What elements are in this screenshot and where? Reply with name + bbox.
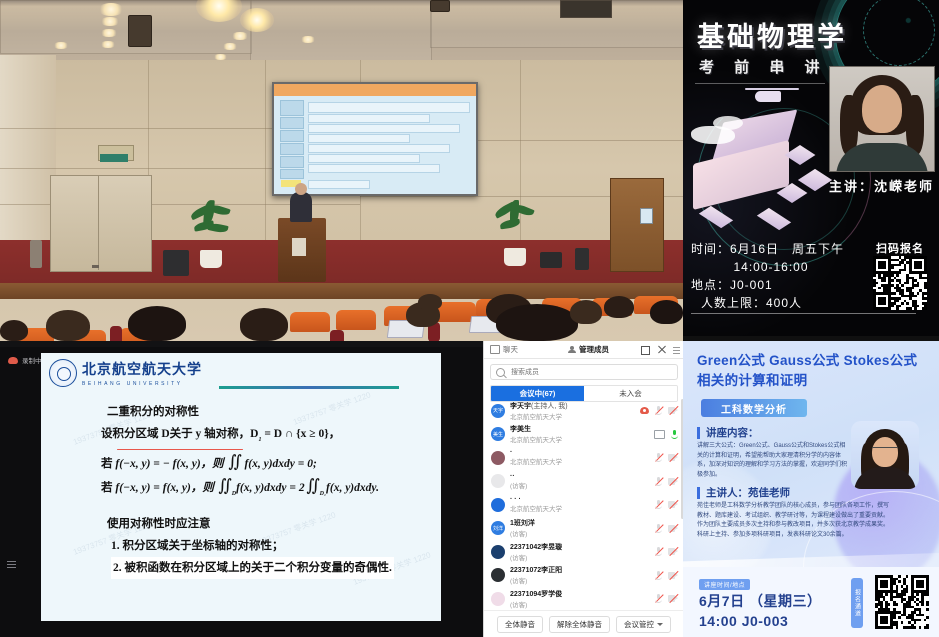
slide-rule xyxy=(219,386,399,389)
projection-screen xyxy=(272,82,478,196)
member-org: 北京航空航天大学 xyxy=(510,456,650,466)
event-capacity: 人数上限：400人 xyxy=(691,294,851,312)
mic-muted-icon[interactable] xyxy=(655,477,662,486)
poster-event-info: 时间：6月16日 周五下午 14:00-16:00 地点：J0-001 人数上限… xyxy=(691,240,851,312)
qr-label: 扫码报名 xyxy=(871,240,929,256)
member-org: (访客) xyxy=(510,599,650,609)
avatar xyxy=(491,545,505,559)
slide-line-2-prefix: 若 xyxy=(101,458,115,470)
speaker-cabinet xyxy=(163,250,189,276)
tab-manage-members-label: 管理成员 xyxy=(579,344,609,355)
mic-muted-icon[interactable] xyxy=(655,406,662,415)
ceiling-panel xyxy=(430,0,683,48)
tab-manage-members[interactable]: 管理成员 xyxy=(562,341,615,358)
lecturer xyxy=(290,192,312,222)
share-topbar xyxy=(0,341,483,347)
screenshot-collage: 基础物理学 考 前 串 讲 主讲：沈嵘老师 时间：6月16日 周五下午 14:0… xyxy=(0,0,939,637)
camera-muted-icon[interactable] xyxy=(668,572,678,579)
member-status-icons xyxy=(655,594,678,603)
ceiling-speaker xyxy=(430,0,450,12)
member-list[interactable]: 天宇李天宇(主持人, 我)北京航空航天大学美生李美生北京航空航天大学·北京航空航… xyxy=(484,399,684,611)
member-org: (访客) xyxy=(510,480,650,490)
helicopter-icon xyxy=(745,86,799,104)
slide-line-2-tail: f(x, y)dxdy = 0; xyxy=(244,458,316,470)
ceiling-downlight xyxy=(53,42,69,49)
tab-chat[interactable]: 聊天 xyxy=(484,341,524,358)
member-name: · xyxy=(510,449,650,456)
avatar xyxy=(491,498,505,512)
shared-slide: 19373757 零关学 1220 19373757 零关学 1220 1937… xyxy=(41,353,441,621)
footer-button-2[interactable]: 解除全体静音 xyxy=(549,616,610,633)
equipment-case xyxy=(575,248,589,270)
course-chip: 工科数学分析 xyxy=(701,399,807,417)
member-org: 北京航空航天大学 xyxy=(510,411,635,421)
hall-door xyxy=(50,175,152,272)
footer-button-label: 解除全体静音 xyxy=(557,619,602,630)
member-status-icons xyxy=(655,571,678,580)
avatar xyxy=(491,474,505,488)
slide-line-2-eq: f(−x, y) = − f(x, y)，则 xyxy=(115,458,223,470)
member-info: ·北京航空航天大学 xyxy=(510,449,650,466)
avatar: 刘洋 xyxy=(491,521,505,535)
section-heading-content: 讲座内容： xyxy=(697,427,759,439)
search-box[interactable] xyxy=(490,364,678,380)
member-info: 1班刘洋(访客) xyxy=(510,518,650,538)
member-status-icons xyxy=(655,500,678,509)
close-icon[interactable] xyxy=(657,345,666,354)
camera-muted-icon[interactable] xyxy=(668,525,678,532)
mic-muted-icon[interactable] xyxy=(655,524,662,533)
wall-emergency-light xyxy=(100,154,128,162)
member-info: 22371094罗学俊(访客) xyxy=(510,589,650,609)
chevron-down-icon xyxy=(657,623,663,626)
poster-subtitle: 考 前 串 讲 xyxy=(699,56,828,77)
slide-titlebar xyxy=(274,84,476,96)
avatar xyxy=(491,568,505,582)
speaker-photo xyxy=(829,66,935,172)
member-row[interactable]: 美生李美生北京航空航天大学 xyxy=(484,423,684,447)
slide-line-3: 若 f(−x, y) = f(x, y)，则 ∬Df(x, y)dxdy = 2… xyxy=(101,475,437,505)
wall-seam xyxy=(265,60,266,240)
physics-lecture-poster: 基础物理学 考 前 串 讲 主讲：沈嵘老师 时间：6月16日 周五下午 14:0… xyxy=(683,0,939,341)
equipment-case xyxy=(540,252,562,268)
member-name: · · · xyxy=(510,496,650,503)
camera-muted-icon[interactable] xyxy=(668,478,678,485)
ceiling-downlight xyxy=(100,41,116,48)
member-row[interactable]: 刘洋1班刘洋(访客) xyxy=(484,517,684,541)
audience-seating xyxy=(0,286,683,341)
podium xyxy=(278,218,326,282)
university-logo: 北京航空航天大学 BEIHANG UNIVERSITY xyxy=(49,359,202,387)
slide-heading: 二重积分的对称性 xyxy=(101,401,437,423)
speaker-photo xyxy=(851,421,919,489)
slide-note-heading: 使用对称性时应注意 xyxy=(101,513,437,535)
isometric-tech-illustration xyxy=(687,92,837,242)
wall-pillar xyxy=(0,55,56,265)
lecture-hall-photo xyxy=(0,0,683,341)
registration-qr-code[interactable] xyxy=(873,256,927,310)
member-info: 李天宇(主持人, 我)北京航空航天大学 xyxy=(510,401,635,421)
slide-line-3-mid: f(x, y)dxdy = 2 xyxy=(236,482,305,494)
camera-muted-icon[interactable] xyxy=(668,407,678,414)
member-row[interactable]: ··(访客) xyxy=(484,470,684,494)
slide-line-3-tail: f(x, y)dxdy. xyxy=(326,482,379,494)
university-name-en: BEIHANG UNIVERSITY xyxy=(82,381,202,387)
poster-title-line2: 相关的计算和证明 xyxy=(697,371,929,391)
footer-place: 14:00 J0-003 xyxy=(699,613,788,629)
member-status-icons xyxy=(655,453,678,462)
cloud-record-icon xyxy=(8,357,18,364)
door-seam xyxy=(98,175,99,270)
member-info: 22371072李正阳(访客) xyxy=(510,565,650,585)
poster-title: 基础物理学 xyxy=(697,15,847,54)
mic-muted-icon[interactable] xyxy=(655,547,662,556)
footer-button-label: 会议管控 xyxy=(624,619,654,630)
footer-button-1[interactable]: 全体静音 xyxy=(497,616,543,633)
double-integral-icon: ∬ xyxy=(228,451,240,473)
cloud-shape xyxy=(713,116,743,130)
member-info: 22371042李昱璇(访客) xyxy=(510,542,650,562)
slide-body: 二重积分的对称性 设积分区域 D关于 y 轴对称，D1 = D ∩ {x ≥ 0… xyxy=(101,401,437,579)
slide-line-1-text: 设积分区域 D关于 y 轴对称，D xyxy=(101,428,258,440)
camera-muted-icon[interactable] xyxy=(668,454,678,461)
door-sign xyxy=(640,208,653,224)
member-tag: (主持人, 我) xyxy=(531,403,568,410)
door-handle xyxy=(92,265,99,268)
mic-muted-icon[interactable] xyxy=(655,453,662,462)
member-row[interactable]: 天宇李天宇(主持人, 我)北京航空航天大学 xyxy=(484,399,684,423)
footer-button-3[interactable]: 会议管控 xyxy=(616,616,671,633)
member-name: 李天宇(主持人, 我) xyxy=(510,401,635,411)
member-status-icons xyxy=(655,477,678,486)
member-name: 1班刘洋 xyxy=(510,518,650,528)
search-input[interactable] xyxy=(509,368,672,377)
mic-muted-icon[interactable] xyxy=(655,594,662,603)
member-org: (访客) xyxy=(510,528,650,538)
math-lecture-poster: Green公式 Gauss公式 Stokes公式 相关的计算和证明 工科数学分析… xyxy=(683,341,939,637)
avatar xyxy=(491,592,505,606)
slide-line-2: 若 f(−x, y) = − f(x, y)，则 ∬ f(x, y)dxdy =… xyxy=(101,451,437,475)
member-name: 22371094罗学俊 xyxy=(510,589,650,599)
member-info: · · ·北京航空航天大学 xyxy=(510,496,650,513)
double-integral-icon: ∬ xyxy=(306,475,318,497)
slide-line-3-eq: f(−x, y) = f(x, y)，则 xyxy=(115,482,213,494)
trash-bin xyxy=(30,240,42,268)
camera-muted-icon[interactable] xyxy=(668,501,678,508)
member-status-icons xyxy=(655,547,678,556)
section-body-content: 讲解三大公式：Green公式、Gauss公式和Stokes公式相关的计算和证明，… xyxy=(697,442,849,480)
more-icon[interactable] xyxy=(673,345,680,354)
mic-muted-icon[interactable] xyxy=(655,500,662,509)
ceiling-panel xyxy=(250,0,432,62)
member-row[interactable]: 22371042李昱璇(访客) xyxy=(484,540,684,564)
qr-label: 报名通道 xyxy=(851,578,863,628)
meeting-screen-share: 录制中 19373757 零关学 1220 19373757 零关学 1220 … xyxy=(0,341,483,637)
window-controls xyxy=(641,341,680,358)
mic-on-icon[interactable] xyxy=(671,430,678,439)
potted-plant xyxy=(188,202,234,268)
member-row[interactable]: 22371094罗学俊(访客) xyxy=(484,587,684,611)
member-org: 北京航空航天大学 xyxy=(510,503,650,513)
mic-muted-icon[interactable] xyxy=(655,571,662,580)
member-status-icons xyxy=(655,524,678,533)
slide-note-1: 1. 积分区域关于坐标轴的对称性； xyxy=(101,535,437,557)
panel-tabs: 聊天 管理成员 xyxy=(484,341,684,359)
member-name: ·· xyxy=(510,473,650,480)
share-screen-icon xyxy=(654,430,665,439)
recording-indicator: 录制中 xyxy=(8,355,42,365)
avatar xyxy=(491,451,505,465)
event-time-line2: 14:00-16:00 xyxy=(691,258,851,276)
chat-icon xyxy=(490,345,500,354)
panel-footer: 全体静音解除全体静音会议管控 xyxy=(484,610,684,637)
hall-door xyxy=(610,178,664,272)
potted-plant xyxy=(492,200,538,266)
participants-panel: 聊天 管理成员 会议中(67) 未入会 天宇李天宇(主持人, 我)北京航空航天大… xyxy=(483,341,684,637)
ceiling-lamp xyxy=(240,8,274,32)
camera-muted-icon[interactable] xyxy=(668,548,678,555)
member-row[interactable]: ·北京航空航天大学 xyxy=(484,446,684,470)
tab-chat-label: 聊天 xyxy=(503,344,518,355)
university-name-cn: 北京航空航天大学 xyxy=(82,359,202,379)
people-icon xyxy=(568,346,576,353)
member-name: 李美生 xyxy=(510,424,649,434)
poster-title: Green公式 Gauss公式 Stokes公式 相关的计算和证明 xyxy=(697,351,929,391)
avatar: 美生 xyxy=(491,427,505,441)
ceiling-downlight xyxy=(98,3,124,16)
event-time-line1: 时间：6月16日 周五下午 xyxy=(691,240,851,258)
list-view-icon[interactable] xyxy=(7,561,16,568)
popout-icon[interactable] xyxy=(641,345,650,354)
member-row[interactable]: · · ·北京航空航天大学 xyxy=(484,493,684,517)
section-body-speaker: 苑佳老师是工科数学分析教学团队的核心成员，参与团队各项工作，撰写教材、题库建设、… xyxy=(697,502,893,540)
slide-line-3-prefix: 若 xyxy=(101,482,115,494)
member-status-icons xyxy=(640,406,678,415)
ceiling-speaker xyxy=(128,15,152,47)
avatar: 天宇 xyxy=(491,404,505,418)
ceiling-downlight xyxy=(100,17,120,26)
cloud-record-icon xyxy=(640,407,649,414)
member-row[interactable]: 22371072李正阳(访客) xyxy=(484,564,684,588)
poster-title-line1: Green公式 Gauss公式 Stokes公式 xyxy=(697,351,929,371)
footer-tag: 讲座时间/地点 xyxy=(699,579,750,590)
camera-muted-icon[interactable] xyxy=(668,595,678,602)
section-heading-speaker: 主讲人：苑佳老师 xyxy=(697,487,790,499)
member-name: 22371042李昱璇 xyxy=(510,542,650,552)
member-info: 李美生北京航空航天大学 xyxy=(510,424,649,444)
footer-date: 6月7日 （星期三） xyxy=(699,591,821,611)
ceiling-vent xyxy=(560,0,612,18)
divider xyxy=(695,83,825,84)
member-org: (访客) xyxy=(510,575,650,585)
slide-note-2: 2. 被积函数在积分区域上的关于二个积分变量的奇偶性. xyxy=(111,557,394,579)
ceiling-downlight xyxy=(231,32,249,40)
ceiling-downlight xyxy=(100,29,118,37)
member-name: 22371072李正阳 xyxy=(510,565,650,575)
registration-qr-code[interactable] xyxy=(875,575,929,629)
member-org: 北京航空航天大学 xyxy=(510,434,649,444)
search-area xyxy=(484,359,684,385)
event-place: 地点：J0-001 xyxy=(691,276,851,294)
beihang-seal-icon xyxy=(49,359,77,387)
recording-label: 录制中 xyxy=(22,355,42,365)
double-integral-icon: ∬ xyxy=(218,475,230,497)
slide-line-1: 设积分区域 D关于 y 轴对称，D1 = D ∩ {x ≥ 0}， xyxy=(101,423,437,451)
member-info: ··(访客) xyxy=(510,473,650,490)
member-org: (访客) xyxy=(510,552,650,562)
slide-line-1-cont: = D ∩ {x ≥ 0}， xyxy=(261,428,340,440)
footer-button-label: 全体静音 xyxy=(505,619,535,630)
ceiling-downlight xyxy=(300,36,316,43)
speaker-name-label: 主讲：沈嵘老师 xyxy=(829,176,934,195)
ceiling-downlight xyxy=(222,43,238,50)
divider xyxy=(691,313,916,314)
member-status-icons xyxy=(654,430,678,439)
search-icon xyxy=(496,368,505,377)
